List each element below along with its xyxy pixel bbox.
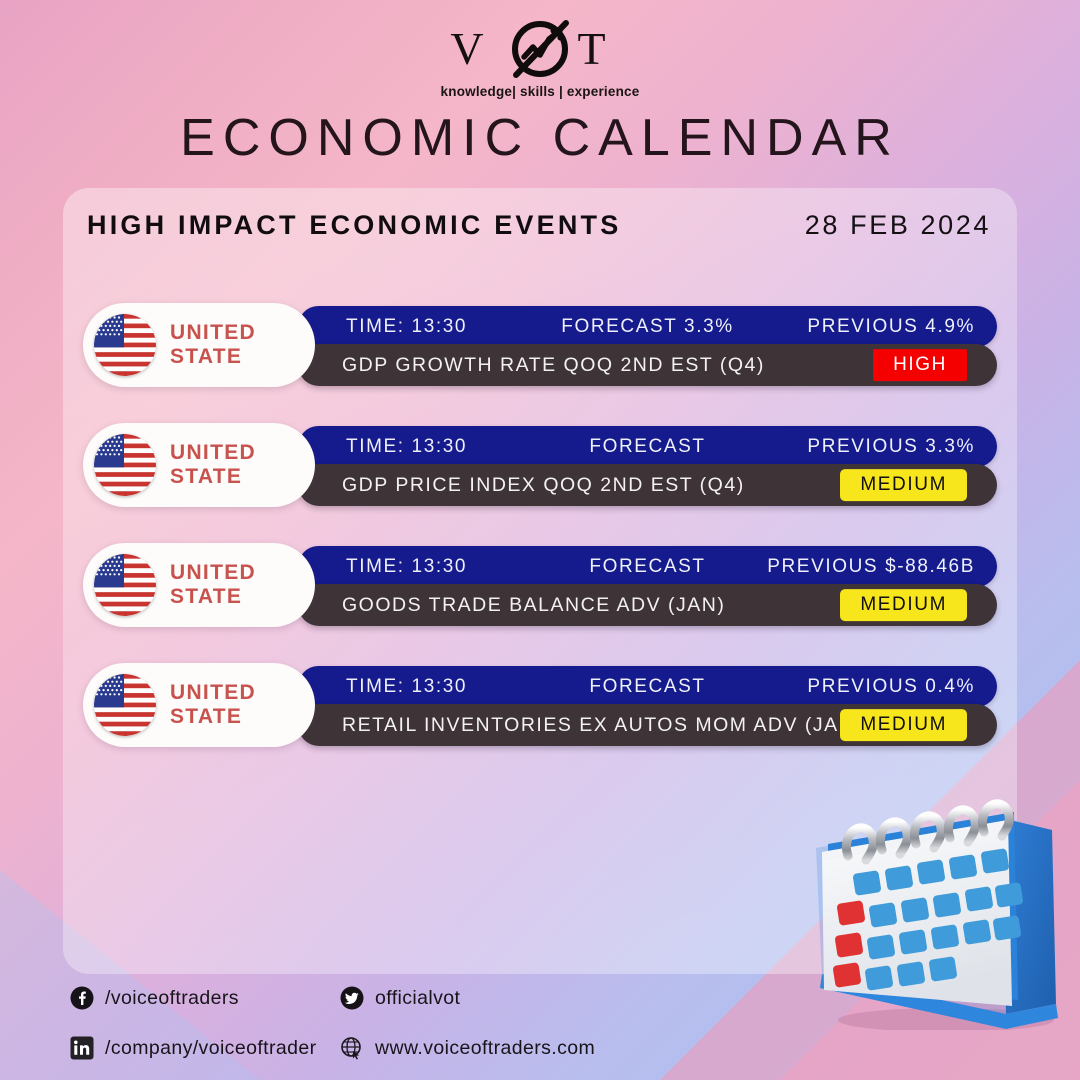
card-heading: HIGH IMPACT ECONOMIC EVENTS: [87, 210, 621, 241]
event-previous: PREVIOUS 0.4%: [807, 676, 975, 698]
event-previous: PREVIOUS 4.9%: [807, 316, 975, 338]
event-name-bar: GOODS TRADE BALANCE ADV (JAN)MEDIUM: [298, 584, 997, 626]
event-row[interactable]: TIME: 13:30FORECAST 3.3%PREVIOUS 4.9%GDP…: [83, 300, 997, 392]
footer-link-text: www.voiceoftraders.com: [375, 1037, 595, 1060]
footer-link-text: /voiceoftraders: [105, 987, 239, 1010]
event-bars: TIME: 13:30FORECASTPREVIOUS 3.3%GDP PRIC…: [298, 420, 997, 512]
footer-link-linkedin[interactable]: /company/voiceoftrader: [70, 1036, 340, 1060]
impact-badge: MEDIUM: [840, 589, 967, 621]
footer-link-globe[interactable]: www.voiceoftraders.com: [340, 1036, 770, 1060]
country-label-line2: STATE: [170, 705, 242, 728]
twitter-icon: [340, 986, 364, 1010]
globe-icon: [340, 1036, 364, 1060]
country-pill[interactable]: UNITEDSTATE: [83, 303, 315, 387]
event-row[interactable]: TIME: 13:30FORECASTPREVIOUS 3.3%GDP PRIC…: [83, 420, 997, 512]
country-label-line1: UNITED: [170, 681, 256, 704]
event-bars: TIME: 13:30FORECASTPREVIOUS 0.4%RETAIL I…: [298, 660, 997, 752]
event-bars: TIME: 13:30FORECAST 3.3%PREVIOUS 4.9%GDP…: [298, 300, 997, 392]
impact-badge: MEDIUM: [840, 469, 967, 501]
event-metrics-bar: TIME: 13:30FORECASTPREVIOUS $-88.46B: [298, 546, 997, 587]
country-pill[interactable]: UNITEDSTATE: [83, 423, 315, 507]
event-name: RETAIL INVENTORIES EX AUTOS MOM ADV (JAN…: [342, 714, 862, 737]
event-previous: PREVIOUS $-88.46B: [767, 556, 975, 578]
event-list: TIME: 13:30FORECAST 3.3%PREVIOUS 4.9%GDP…: [83, 300, 997, 780]
us-flag-icon: [94, 434, 156, 496]
chart-circle-icon: [503, 12, 577, 86]
event-bars: TIME: 13:30FORECASTPREVIOUS $-88.46BGOOD…: [298, 540, 997, 632]
event-name: GDP PRICE INDEX QOQ 2ND EST (Q4): [342, 474, 745, 497]
country-label: UNITEDSTATE: [170, 441, 256, 488]
country-label-line1: UNITED: [170, 321, 256, 344]
event-name-bar: RETAIL INVENTORIES EX AUTOS MOM ADV (JAN…: [298, 704, 997, 746]
event-row[interactable]: TIME: 13:30FORECASTPREVIOUS 0.4%RETAIL I…: [83, 660, 997, 752]
event-name-bar: GDP GROWTH RATE QOQ 2ND EST (Q4)HIGH: [298, 344, 997, 386]
footer-link-facebook[interactable]: /voiceoftraders: [70, 986, 340, 1010]
us-flag-icon: [94, 674, 156, 736]
linkedin-icon: [70, 1036, 94, 1060]
us-flag-icon: [94, 314, 156, 376]
event-name: GDP GROWTH RATE QOQ 2ND EST (Q4): [342, 354, 765, 377]
footer-link-text: officialvot: [375, 987, 460, 1010]
country-label: UNITEDSTATE: [170, 681, 256, 728]
event-name-bar: GDP PRICE INDEX QOQ 2ND EST (Q4)MEDIUM: [298, 464, 997, 506]
desk-calendar-illustration: [806, 778, 1074, 1030]
event-metrics-bar: TIME: 13:30FORECASTPREVIOUS 3.3%: [298, 426, 997, 467]
card-header: HIGH IMPACT ECONOMIC EVENTS 28 FEB 2024: [87, 210, 991, 241]
event-previous: PREVIOUS 3.3%: [807, 436, 975, 458]
country-label-line2: STATE: [170, 585, 242, 608]
footer-link-text: /company/voiceoftrader: [105, 1037, 316, 1060]
country-label-line2: STATE: [170, 345, 242, 368]
event-metrics-bar: TIME: 13:30FORECASTPREVIOUS 0.4%: [298, 666, 997, 707]
impact-badge: HIGH: [873, 349, 967, 381]
country-pill[interactable]: UNITEDSTATE: [83, 663, 315, 747]
event-row[interactable]: TIME: 13:30FORECASTPREVIOUS $-88.46BGOOD…: [83, 540, 997, 632]
country-pill[interactable]: UNITEDSTATE: [83, 543, 315, 627]
footer-link-twitter[interactable]: officialvot: [340, 986, 770, 1010]
poster-canvas: V T knowledge| skills | experience ECONO…: [0, 0, 1080, 1080]
footer-links: /voiceoftradersofficialvot/company/voice…: [70, 986, 770, 1060]
logo-tagline: knowledge| skills | experience: [0, 84, 1080, 99]
us-flag-icon: [94, 554, 156, 616]
facebook-icon: [70, 986, 94, 1010]
country-label-line2: STATE: [170, 465, 242, 488]
card-date: 28 FEB 2024: [805, 210, 991, 241]
country-label-line1: UNITED: [170, 561, 256, 584]
country-label: UNITEDSTATE: [170, 321, 256, 368]
country-label: UNITEDSTATE: [170, 561, 256, 608]
logo-mark: V T: [432, 16, 647, 82]
brand-logo: V T knowledge| skills | experience: [0, 16, 1080, 99]
event-name: GOODS TRADE BALANCE ADV (JAN): [342, 594, 725, 617]
event-metrics-bar: TIME: 13:30FORECAST 3.3%PREVIOUS 4.9%: [298, 306, 997, 347]
impact-badge: MEDIUM: [840, 709, 967, 741]
country-label-line1: UNITED: [170, 441, 256, 464]
page-title: ECONOMIC CALENDAR: [0, 108, 1080, 168]
